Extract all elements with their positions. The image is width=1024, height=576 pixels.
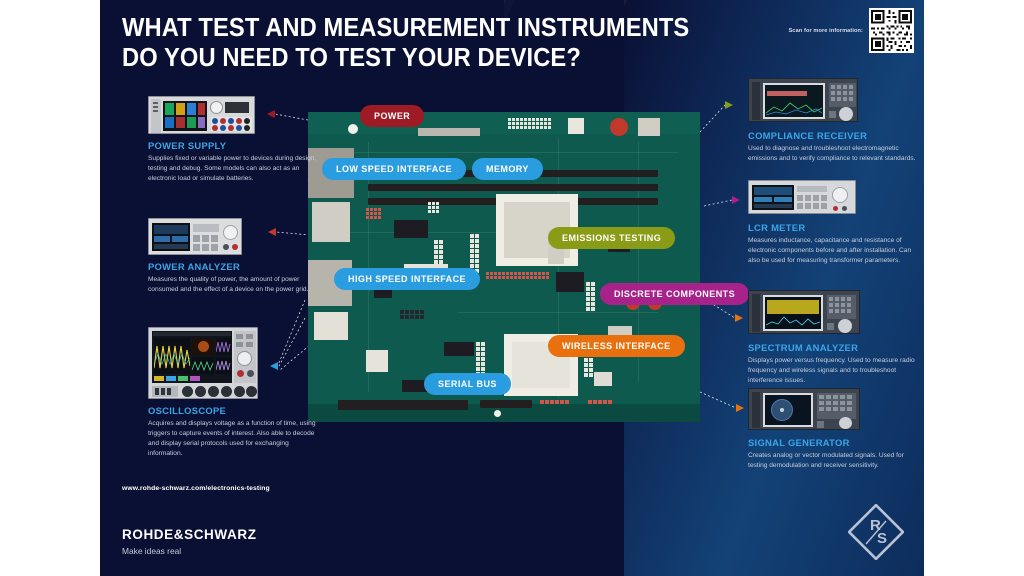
- device-image-power-analyzer: [148, 218, 242, 255]
- pill-low-speed-interface[interactable]: LOW SPEED INTERFACE: [322, 158, 466, 180]
- info-title-compliance-receiver: COMPLIANCE RECEIVER: [748, 130, 918, 141]
- info-title-oscilloscope: OSCILLOSCOPE: [148, 405, 318, 416]
- svg-text:S: S: [877, 530, 887, 547]
- device-image-lcr-meter: [748, 180, 856, 214]
- device-image-spectrum-analyzer: [748, 290, 860, 334]
- info-desc-power-analyzer: Measures the quality of power, the amoun…: [148, 275, 318, 295]
- info-block-spectrum-analyzer: SPECTRUM ANALYZER Displays power versus …: [748, 342, 918, 386]
- pcb-pad-array-2: [428, 202, 439, 213]
- device-image-power-supply: [148, 96, 255, 134]
- pill-discrete-components[interactable]: DISCRETE COMPONENTS: [600, 283, 749, 305]
- pill-power[interactable]: POWER: [360, 105, 424, 127]
- info-block-oscilloscope: OSCILLOSCOPE Acquires and displays volta…: [148, 405, 318, 459]
- pcb-pad-array: [508, 118, 551, 129]
- pill-memory[interactable]: MEMORY: [472, 158, 543, 180]
- info-title-power-analyzer: POWER ANALYZER: [148, 261, 318, 272]
- device-image-oscilloscope: [148, 327, 258, 399]
- pill-high-speed-interface[interactable]: HIGH SPEED INTERFACE: [334, 268, 480, 290]
- info-desc-oscilloscope: Acquires and displays voltage as a funct…: [148, 419, 318, 459]
- info-title-signal-generator: SIGNAL GENERATOR: [748, 437, 918, 448]
- brand-tagline: Make ideas real: [122, 546, 181, 556]
- edge-fine-print: [915, 478, 920, 480]
- device-image-signal-generator: [748, 388, 860, 430]
- pcb-pad-column-2: [470, 234, 479, 273]
- title-line-2: DO YOU NEED TO TEST YOUR DEVICE?: [122, 44, 717, 74]
- pcb-pad-array-red-2: [366, 208, 381, 219]
- pill-emissions-testing[interactable]: EMISSIONS TESTING: [548, 227, 675, 249]
- info-desc-lcr-meter: Measures inductance, capacitance and res…: [748, 236, 918, 266]
- info-block-power-supply: POWER SUPPLY Supplies fixed or variable …: [148, 140, 318, 184]
- pill-serial-bus[interactable]: SERIAL BUS: [424, 373, 511, 395]
- pill-wireless-interface[interactable]: WIRELESS INTERFACE: [548, 335, 685, 357]
- pcb-pad-array-dark: [400, 310, 424, 319]
- pcb-pad-array-red-4: [588, 400, 612, 404]
- info-block-compliance-receiver: COMPLIANCE RECEIVER Used to diagnose and…: [748, 130, 918, 164]
- pcb-pad-array-red-3: [540, 400, 569, 404]
- info-desc-compliance-receiver: Used to diagnose and troubleshoot electr…: [748, 144, 918, 164]
- device-image-compliance-receiver: [748, 78, 858, 122]
- info-title-spectrum-analyzer: SPECTRUM ANALYZER: [748, 342, 918, 353]
- qr-block: Scan for more information:: [789, 8, 914, 53]
- info-title-lcr-meter: LCR METER: [748, 222, 918, 233]
- poster-body: WHAT TEST AND MEASUREMENT INSTRUMENTS DO…: [100, 0, 924, 576]
- title-line-1: WHAT TEST AND MEASUREMENT INSTRUMENTS: [122, 14, 689, 42]
- pcb-pad-column-3: [586, 282, 595, 311]
- info-title-power-supply: POWER SUPPLY: [148, 140, 318, 151]
- info-block-power-analyzer: POWER ANALYZER Measures the quality of p…: [148, 261, 318, 295]
- info-desc-signal-generator: Creates analog or vector modulated signa…: [748, 451, 918, 471]
- pcb-pad-array-red: [486, 272, 549, 279]
- rohde-schwarz-logo-icon: R S: [848, 504, 904, 560]
- info-desc-spectrum-analyzer: Displays power versus frequency. Used to…: [748, 356, 918, 386]
- info-block-lcr-meter: LCR METER Measures inductance, capacitan…: [748, 222, 918, 266]
- info-desc-power-supply: Supplies fixed or variable power to devi…: [148, 154, 318, 184]
- qr-code-icon[interactable]: [869, 8, 914, 53]
- brand-wordmark: ROHDE&SCHWARZ: [122, 527, 257, 542]
- page-title: WHAT TEST AND MEASUREMENT INSTRUMENTS DO…: [122, 14, 717, 73]
- footer-url-link[interactable]: www.rohde-schwarz.com/electronics-testin…: [122, 485, 270, 492]
- poster-canvas: WHAT TEST AND MEASUREMENT INSTRUMENTS DO…: [0, 0, 1024, 576]
- qr-label: Scan for more information:: [789, 28, 863, 34]
- info-block-signal-generator: SIGNAL GENERATOR Creates analog or vecto…: [748, 437, 918, 471]
